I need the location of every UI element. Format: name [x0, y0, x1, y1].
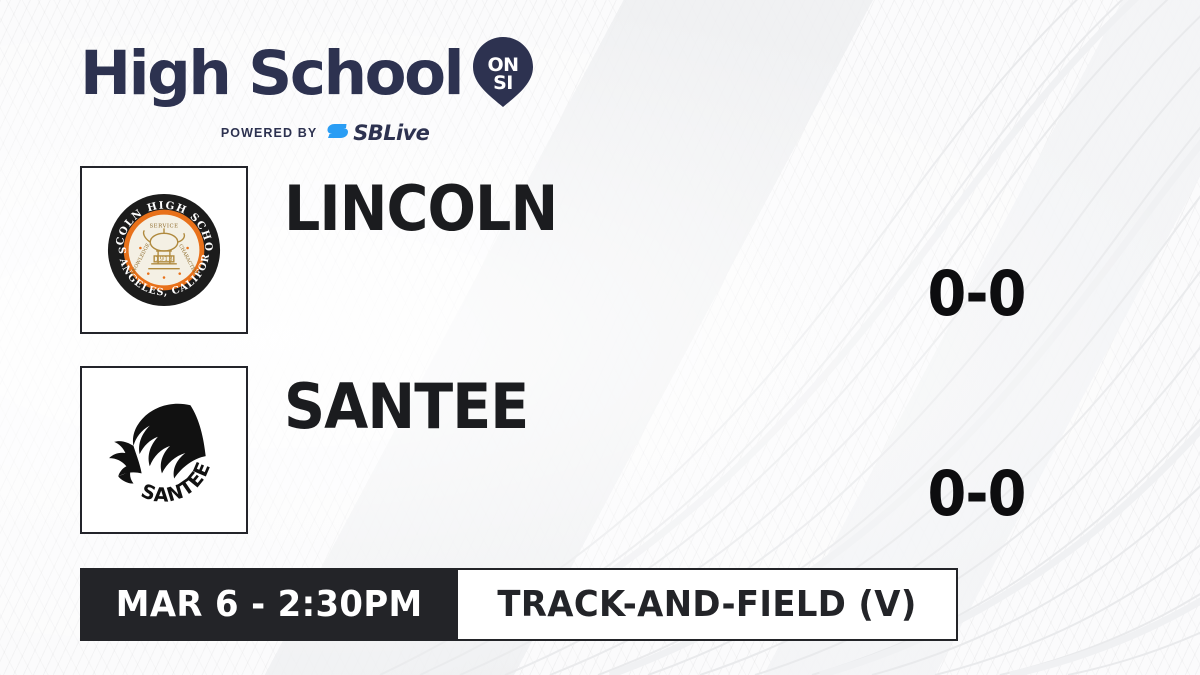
powered-by-row: POWERED BY SBLive: [116, 122, 534, 144]
game-datetime-text: MAR 6 - 2:30PM: [116, 587, 423, 623]
brand-logo-row: High School ON SI: [80, 34, 534, 113]
team-logo-box-home: LINCOLN HIGH SCHOOL LOS ANGELES, CALIFOR…: [80, 166, 248, 334]
svg-text:1913: 1913: [155, 255, 173, 263]
on-si-pin-line2: SI: [493, 72, 513, 94]
team-name-away: SANTEE: [284, 376, 528, 438]
lincoln-high-school-seal-icon: LINCOLN HIGH SCHOOL LOS ANGELES, CALIFOR…: [105, 191, 223, 309]
team-logo-box-away: SANTEE: [80, 366, 248, 534]
map-pin-icon: ON SI: [472, 36, 534, 108]
powered-by-label: POWERED BY: [221, 126, 317, 140]
sblive-wordmark: SBLive: [353, 123, 429, 144]
team-record-away: 0-0: [927, 463, 1025, 525]
santee-hawk-icon: SANTEE: [103, 389, 225, 511]
game-info-bar: MAR 6 - 2:30PM TRACK-AND-FIELD (V): [80, 568, 958, 641]
brand-header: High School ON SI POWERED BY SBLive: [80, 34, 534, 144]
svg-text:SERVICE: SERVICE: [149, 223, 178, 229]
team-record-home: 0-0: [927, 263, 1025, 325]
sblive-logo: SBLive: [326, 122, 429, 144]
team-name-home: LINCOLN: [284, 178, 557, 240]
on-si-pin-wrap: ON SI: [472, 36, 534, 113]
game-sport-text: TRACK-AND-FIELD (V): [498, 587, 917, 623]
sblive-bolt-icon: [326, 122, 350, 144]
game-sport-block: TRACK-AND-FIELD (V): [458, 568, 958, 641]
game-datetime-block: MAR 6 - 2:30PM: [80, 568, 458, 641]
matchup-graphic: High School ON SI POWERED BY SBLive: [0, 0, 1200, 675]
page-title: High School: [80, 43, 462, 104]
